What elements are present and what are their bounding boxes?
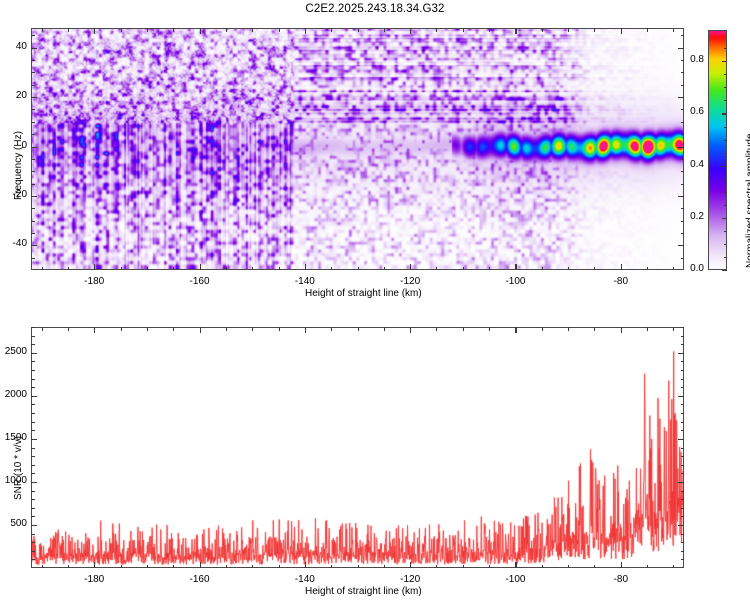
axis-tick	[647, 327, 648, 331]
axis-tick	[647, 565, 648, 569]
axis-tick	[31, 221, 35, 222]
axis-tick	[681, 171, 685, 172]
axis-tick	[31, 456, 35, 457]
axis-tick	[722, 270, 727, 271]
axis-tick	[94, 327, 95, 333]
axis-tick	[681, 327, 685, 328]
axis-tick	[305, 264, 306, 270]
axis-tick	[463, 565, 464, 569]
axis-tick	[568, 28, 569, 32]
axis-tick	[681, 85, 685, 86]
axis-tick	[31, 499, 35, 500]
axis-tick	[31, 97, 37, 98]
axis-tick-label: 500	[10, 518, 27, 529]
axis-tick	[681, 551, 685, 552]
axis-tick	[542, 267, 543, 271]
axis-tick	[173, 267, 174, 271]
axis-tick	[621, 327, 622, 333]
axis-tick	[94, 264, 95, 270]
axis-tick	[31, 396, 37, 397]
axis-tick	[31, 473, 35, 474]
axis-tick-label: -120	[400, 574, 420, 585]
axis-tick	[681, 542, 685, 543]
axis-tick	[681, 344, 685, 345]
axis-tick	[31, 508, 35, 509]
axis-tick	[279, 565, 280, 569]
axis-tick	[681, 404, 685, 405]
axis-tick	[68, 327, 69, 331]
axis-tick	[722, 113, 727, 114]
axis-tick	[681, 491, 685, 492]
axis-tick	[594, 327, 595, 331]
axis-tick	[724, 244, 727, 245]
axis-tick	[31, 448, 35, 449]
axis-tick-label: 0.6	[690, 106, 704, 117]
axis-tick	[147, 28, 148, 32]
axis-tick-label: -180	[84, 276, 104, 287]
axis-tick	[681, 413, 685, 414]
axis-tick	[31, 233, 35, 234]
axis-tick-label: 2500	[5, 346, 27, 357]
axis-tick	[542, 327, 543, 331]
axis-tick	[31, 196, 37, 197]
axis-tick	[724, 48, 727, 49]
axis-tick	[681, 499, 685, 500]
axis-tick	[724, 205, 727, 206]
axis-tick	[678, 525, 684, 526]
axis-tick	[681, 559, 685, 560]
axis-tick	[568, 267, 569, 271]
axis-tick	[678, 196, 684, 197]
axis-tick	[31, 60, 35, 61]
axis-tick	[681, 379, 685, 380]
axis-tick	[68, 267, 69, 271]
axis-tick	[226, 267, 227, 271]
axis-tick	[681, 122, 685, 123]
axis-tick	[358, 327, 359, 331]
spectrogram-canvas	[31, 28, 684, 270]
axis-tick	[31, 465, 35, 466]
axis-tick	[252, 565, 253, 569]
axis-tick-label: 0.0	[690, 263, 704, 274]
colorbar-label: Normalized spectral amplitude	[745, 133, 750, 268]
axis-tick	[678, 147, 684, 148]
axis-tick	[305, 28, 306, 34]
axis-tick	[42, 327, 43, 331]
axis-tick	[147, 327, 148, 331]
axis-tick	[173, 327, 174, 331]
axis-tick	[147, 267, 148, 271]
axis-tick	[681, 361, 685, 362]
axis-tick-label: 0.2	[690, 211, 704, 222]
axis-tick	[722, 61, 727, 62]
axis-tick	[489, 28, 490, 32]
axis-tick	[681, 534, 685, 535]
axis-tick	[724, 100, 727, 101]
axis-tick	[515, 28, 516, 34]
axis-tick	[31, 245, 37, 246]
spectrogram-x-axis-label: Height of straight line (km)	[305, 288, 422, 299]
axis-tick	[681, 72, 685, 73]
axis-tick	[31, 413, 35, 414]
spectrogram-panel	[31, 28, 684, 270]
axis-tick	[621, 264, 622, 270]
axis-tick	[724, 87, 727, 88]
axis-tick	[678, 245, 684, 246]
axis-tick	[331, 267, 332, 271]
axis-tick	[331, 28, 332, 32]
axis-tick	[681, 456, 685, 457]
axis-tick	[681, 233, 685, 234]
colorbar-gradient	[708, 30, 727, 270]
axis-tick	[121, 28, 122, 32]
axis-tick-label: -160	[190, 574, 210, 585]
axis-tick	[681, 184, 685, 185]
axis-tick	[358, 565, 359, 569]
axis-tick	[724, 192, 727, 193]
axis-tick	[31, 134, 35, 135]
axis-tick	[436, 565, 437, 569]
axis-tick	[200, 562, 201, 568]
axis-tick-label: -80	[614, 574, 628, 585]
axis-tick-label: -100	[505, 574, 525, 585]
axis-tick	[31, 361, 35, 362]
axis-tick	[31, 258, 35, 259]
axis-tick-label: 2000	[5, 389, 27, 400]
axis-tick	[305, 562, 306, 568]
axis-tick	[147, 565, 148, 569]
axis-tick	[31, 72, 35, 73]
axis-tick	[252, 267, 253, 271]
axis-tick	[594, 565, 595, 569]
axis-tick	[515, 562, 516, 568]
axis-tick	[31, 208, 35, 209]
axis-tick	[673, 28, 674, 32]
axis-tick	[42, 28, 43, 32]
axis-tick	[681, 430, 685, 431]
axis-tick-label: -140	[295, 574, 315, 585]
axis-tick	[31, 344, 35, 345]
axis-tick-label: 20	[16, 90, 27, 101]
axis-tick	[724, 74, 727, 75]
axis-tick-label: -80	[614, 276, 628, 287]
axis-tick-label: -160	[190, 276, 210, 287]
axis-tick	[724, 140, 727, 141]
axis-tick	[681, 422, 685, 423]
axis-tick	[724, 127, 727, 128]
axis-tick	[252, 327, 253, 331]
axis-tick	[678, 482, 684, 483]
axis-tick	[515, 264, 516, 270]
axis-tick	[681, 465, 685, 466]
axis-tick-label: 40	[16, 41, 27, 52]
figure-root: C2E2.2025.243.18.34.G32 -180-160-140-120…	[0, 0, 750, 600]
axis-tick	[463, 267, 464, 271]
snr-x-axis-label: Height of straight line (km)	[305, 586, 422, 597]
axis-tick	[722, 218, 727, 219]
axis-tick	[724, 153, 727, 154]
axis-tick	[410, 327, 411, 333]
axis-tick	[31, 404, 35, 405]
axis-tick	[31, 48, 37, 49]
axis-tick	[31, 379, 35, 380]
axis-tick	[678, 97, 684, 98]
axis-tick	[463, 327, 464, 331]
axis-tick-label: -40	[13, 238, 27, 249]
axis-tick	[678, 353, 684, 354]
axis-tick	[331, 327, 332, 331]
axis-tick	[31, 387, 35, 388]
axis-tick	[31, 85, 35, 86]
axis-tick	[681, 221, 685, 222]
axis-tick	[31, 184, 35, 185]
axis-tick	[722, 166, 727, 167]
axis-tick	[724, 179, 727, 180]
axis-tick	[681, 516, 685, 517]
axis-tick	[31, 551, 35, 552]
axis-tick	[226, 565, 227, 569]
axis-tick	[200, 264, 201, 270]
axis-tick	[489, 327, 490, 331]
axis-tick	[489, 565, 490, 569]
axis-tick	[331, 565, 332, 569]
axis-tick	[410, 28, 411, 34]
axis-tick	[673, 267, 674, 271]
axis-tick	[31, 422, 35, 423]
axis-tick	[681, 370, 685, 371]
axis-tick	[681, 35, 685, 36]
axis-tick	[542, 565, 543, 569]
axis-tick	[489, 267, 490, 271]
axis-tick	[31, 35, 35, 36]
snr-y-axis-label: SNR (10 * v/v)	[13, 436, 24, 500]
axis-tick-label: -120	[400, 276, 420, 287]
axis-tick	[681, 159, 685, 160]
axis-tick	[31, 525, 37, 526]
axis-tick	[31, 482, 37, 483]
axis-tick	[621, 28, 622, 34]
axis-tick	[31, 559, 35, 560]
axis-tick	[121, 267, 122, 271]
axis-tick	[31, 109, 35, 110]
axis-tick	[681, 258, 685, 259]
axis-tick	[42, 267, 43, 271]
axis-tick	[31, 171, 35, 172]
axis-tick	[31, 122, 35, 123]
axis-tick	[681, 508, 685, 509]
axis-tick	[31, 439, 37, 440]
axis-tick-label: 0.8	[690, 54, 704, 65]
axis-tick	[31, 430, 35, 431]
axis-tick	[279, 28, 280, 32]
axis-tick	[384, 327, 385, 331]
axis-tick	[384, 28, 385, 32]
axis-tick	[673, 565, 674, 569]
axis-tick	[358, 28, 359, 32]
snr-panel	[31, 327, 684, 568]
axis-tick	[31, 534, 35, 535]
axis-tick	[31, 159, 35, 160]
axis-tick-label: -100	[505, 276, 525, 287]
axis-tick	[681, 448, 685, 449]
axis-tick	[436, 28, 437, 32]
axis-tick	[568, 327, 569, 331]
axis-tick	[384, 267, 385, 271]
axis-tick	[647, 28, 648, 32]
axis-tick	[31, 491, 35, 492]
axis-tick	[68, 28, 69, 32]
axis-tick	[647, 267, 648, 271]
axis-tick	[31, 353, 37, 354]
axis-tick	[678, 439, 684, 440]
axis-tick-label: -180	[84, 574, 104, 585]
axis-tick	[279, 267, 280, 271]
figure-title: C2E2.2025.243.18.34.G32	[0, 3, 750, 15]
axis-tick-label: 0.4	[690, 159, 704, 170]
axis-tick	[621, 562, 622, 568]
axis-tick	[681, 60, 685, 61]
axis-tick	[724, 257, 727, 258]
axis-tick	[384, 565, 385, 569]
axis-tick	[681, 208, 685, 209]
axis-tick	[31, 336, 35, 337]
axis-tick	[681, 109, 685, 110]
axis-tick	[226, 327, 227, 331]
axis-tick	[681, 336, 685, 337]
axis-tick	[673, 327, 674, 331]
axis-tick	[515, 327, 516, 333]
axis-tick	[678, 396, 684, 397]
axis-tick	[436, 267, 437, 271]
axis-tick	[31, 147, 37, 148]
axis-tick	[305, 327, 306, 333]
axis-tick	[410, 562, 411, 568]
axis-tick	[358, 267, 359, 271]
axis-tick	[121, 565, 122, 569]
axis-tick	[68, 565, 69, 569]
axis-tick	[42, 565, 43, 569]
axis-tick	[279, 327, 280, 331]
axis-tick	[31, 327, 35, 328]
axis-tick	[678, 48, 684, 49]
axis-tick	[31, 516, 35, 517]
axis-tick	[226, 28, 227, 32]
axis-tick	[681, 387, 685, 388]
axis-tick	[594, 28, 595, 32]
axis-tick	[200, 28, 201, 34]
axis-tick	[410, 264, 411, 270]
axis-tick	[94, 562, 95, 568]
axis-tick	[463, 28, 464, 32]
axis-tick	[542, 28, 543, 32]
axis-tick	[173, 565, 174, 569]
axis-tick	[31, 370, 35, 371]
axis-tick	[724, 231, 727, 232]
axis-tick	[681, 134, 685, 135]
axis-tick	[681, 473, 685, 474]
spectrogram-y-axis-label: Frequency (Hz)	[13, 131, 24, 200]
axis-tick	[31, 542, 35, 543]
axis-tick	[94, 28, 95, 34]
axis-tick	[594, 267, 595, 271]
axis-tick	[121, 327, 122, 331]
axis-tick-label: -140	[295, 276, 315, 287]
axis-tick	[252, 28, 253, 32]
axis-tick	[436, 327, 437, 331]
axis-tick	[173, 28, 174, 32]
colorbar	[708, 30, 727, 270]
snr-canvas	[31, 327, 684, 568]
axis-tick	[200, 327, 201, 333]
axis-tick	[568, 565, 569, 569]
